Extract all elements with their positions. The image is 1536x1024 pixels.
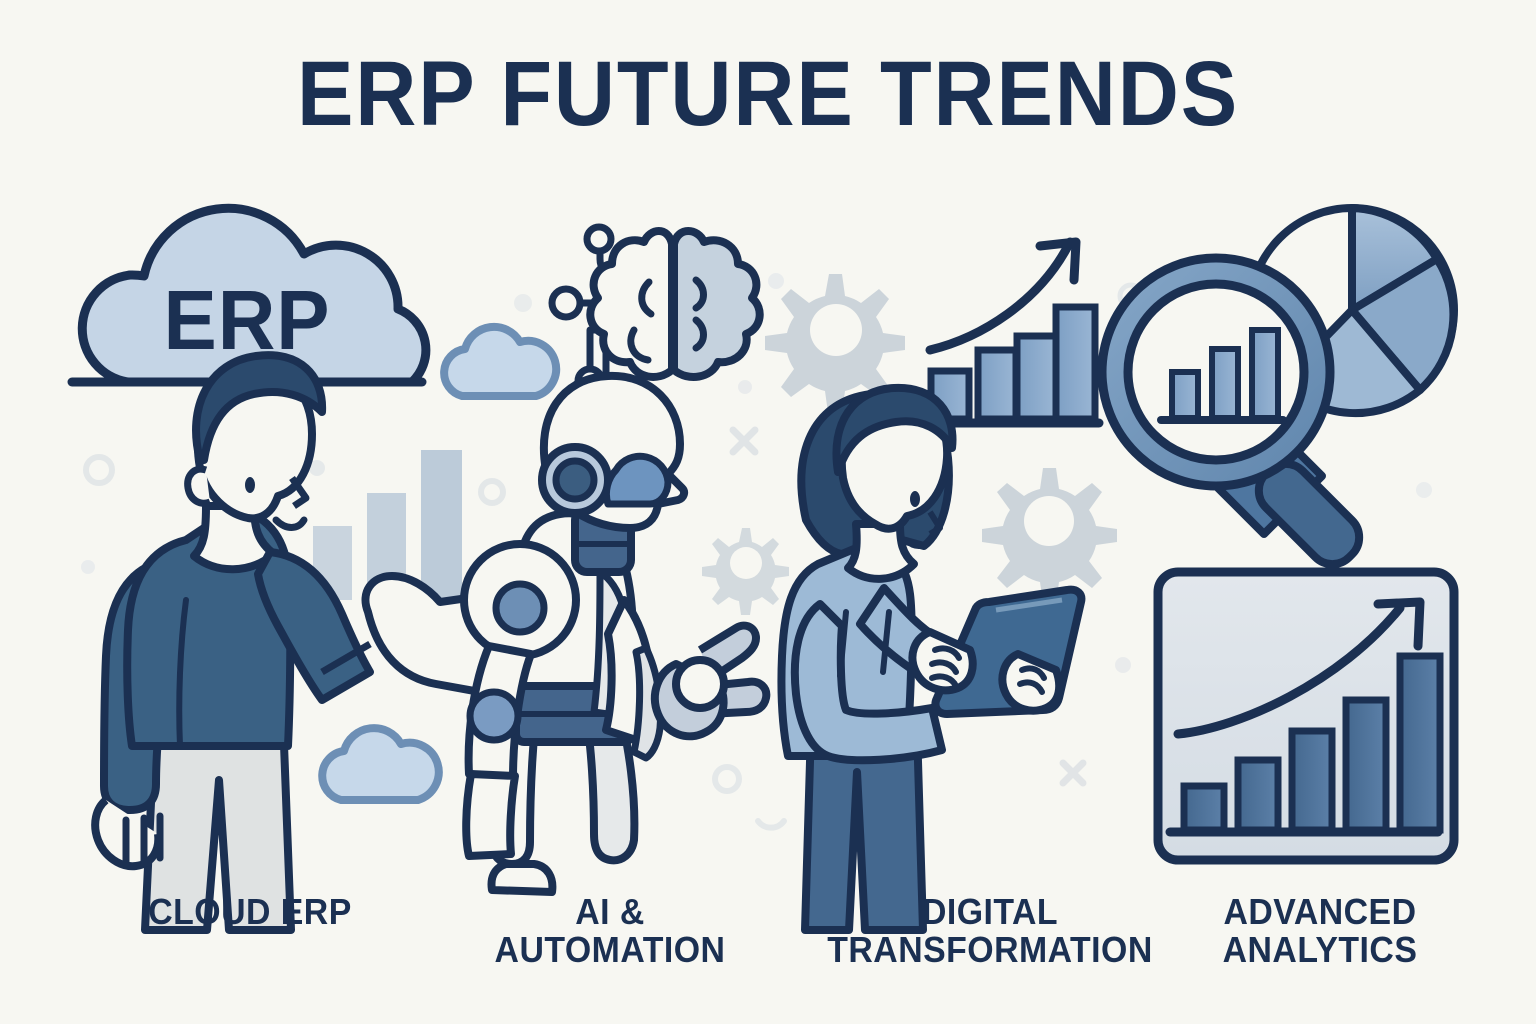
growth-bar-chart-icon	[919, 242, 1099, 423]
caption-line: AI &	[413, 893, 808, 931]
gear-icon-2	[982, 468, 1117, 603]
small-gear-icon	[702, 528, 789, 615]
caption-advanced-analytics: ADVANCED ANALYTICS	[1123, 893, 1518, 969]
cloud-erp-badge-text: ERP	[81, 272, 414, 369]
caption-line: ANALYTICS	[1123, 931, 1518, 969]
analytics-panel-icon	[1158, 572, 1454, 860]
infographic-canvas: ERP FUTURE TRENDS CLOUD ERP AI & AUTOMAT…	[0, 0, 1536, 1024]
caption-line: AUTOMATION	[413, 931, 808, 969]
illustration-layer	[0, 0, 1536, 1024]
caption-cloud-erp: CLOUD ERP	[53, 893, 448, 931]
caption-line: CLOUD ERP	[53, 893, 448, 931]
robot-icon	[464, 376, 766, 892]
woman-with-tablet-icon	[781, 388, 1081, 930]
caption-ai-automation: AI & AUTOMATION	[413, 893, 808, 969]
caption-line: ADVANCED	[1123, 893, 1518, 931]
page-title: ERP FUTURE TRENDS	[61, 48, 1474, 140]
small-cloud-icon-2	[322, 728, 439, 800]
small-cloud-icon	[444, 327, 556, 396]
